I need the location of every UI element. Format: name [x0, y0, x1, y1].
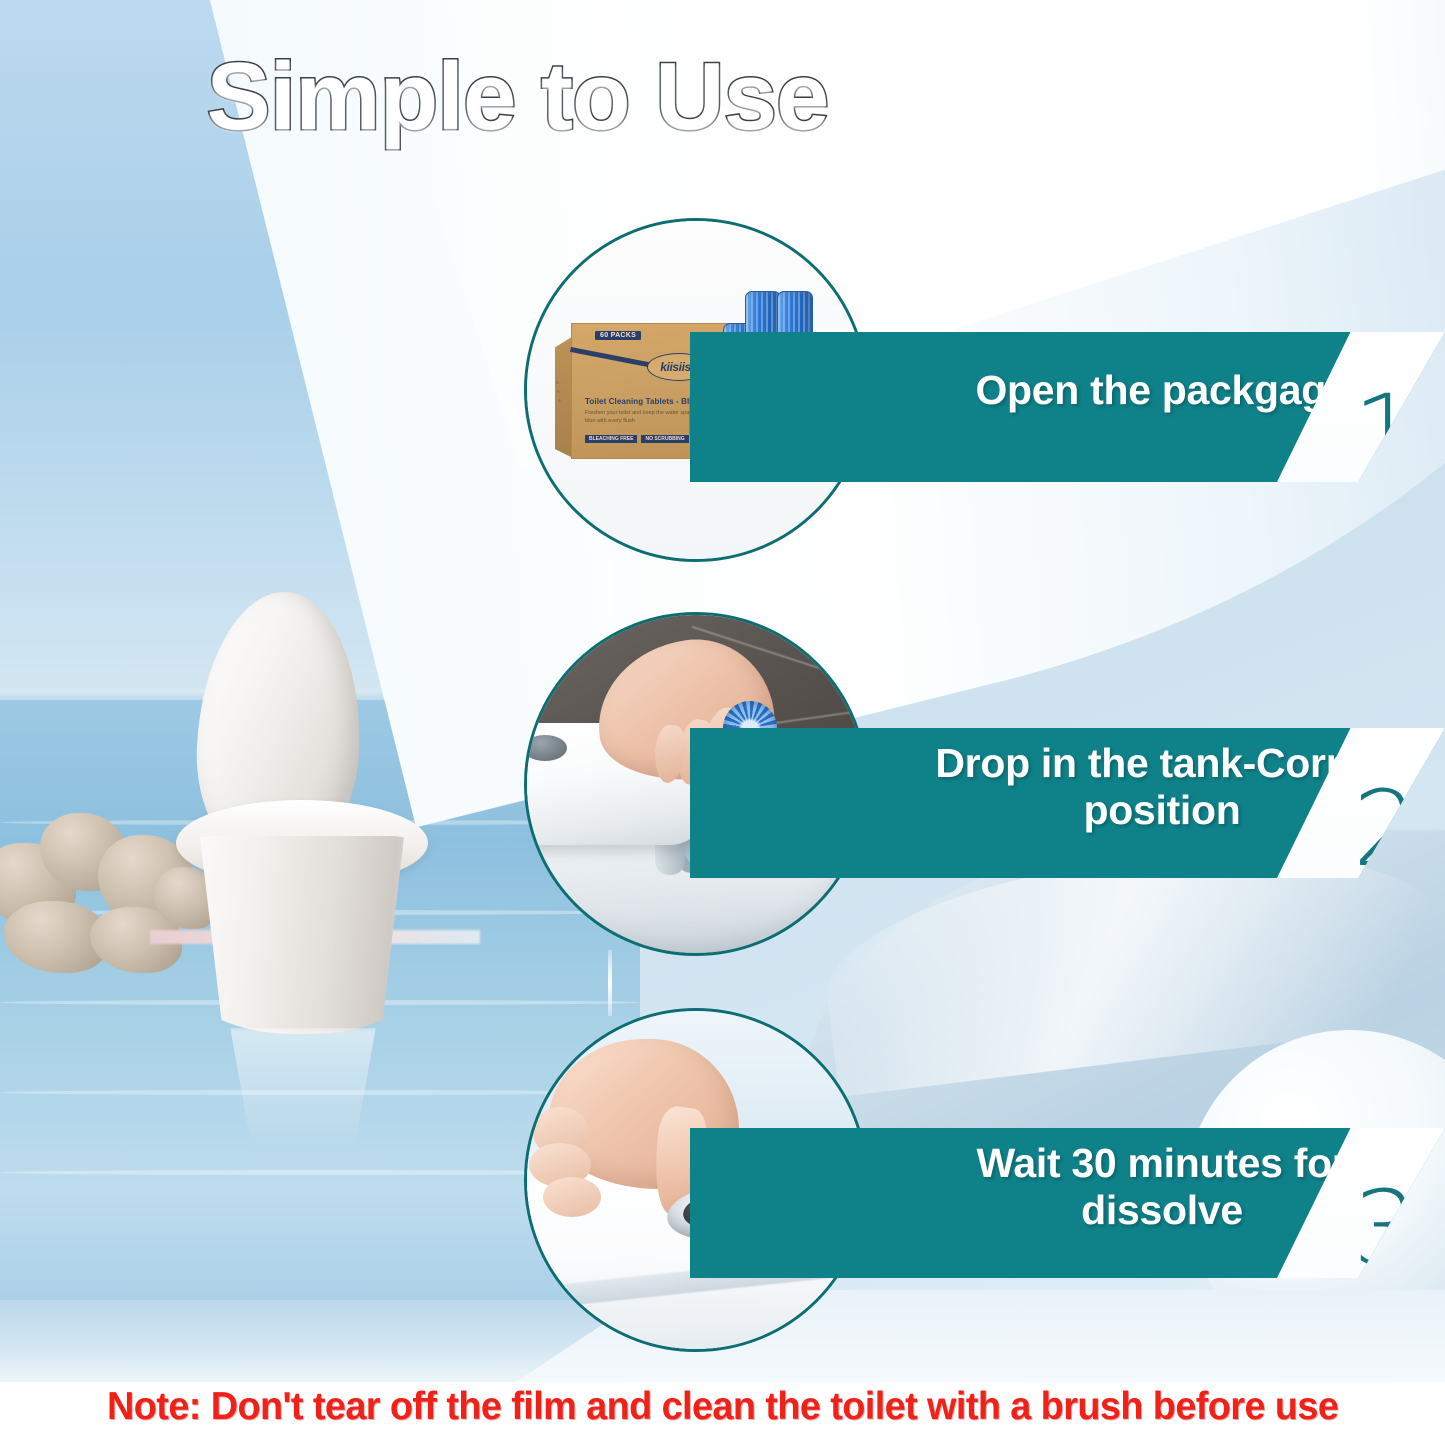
- note-text: Note: Don't tear off the film and clean …: [107, 1385, 1338, 1429]
- toilet-bowl: [186, 836, 418, 1034]
- infographic-poster: Simple to Use ≡≡≡ 60 PACKS kiisiiso Toil…: [0, 0, 1445, 1432]
- carton-packs-badge: 60 PACKS: [595, 331, 641, 340]
- step-1-banner: Open the packgage 1: [690, 332, 1445, 482]
- step-2-label-line1: Drop in the tank-Corner: [935, 740, 1388, 786]
- step-connector-2-3: [608, 950, 612, 1016]
- step-2-banner: Drop in the tank-Corner position 2: [690, 728, 1445, 878]
- step-connector-1-2: [608, 556, 612, 622]
- note-bar: Note: Don't tear off the film and clean …: [0, 1382, 1445, 1432]
- carton-tag-right: NO SCRUBBING: [641, 435, 688, 443]
- step-3-label-line1: Wait 30 minutes for: [977, 1140, 1348, 1186]
- carton-tag-left: BLEACHING FREE: [585, 435, 637, 443]
- step-2-label-line2: position: [1083, 787, 1240, 833]
- carton-side-text: ≡≡≡: [556, 379, 562, 406]
- carton-feature-tags: BLEACHING FREE NO SCRUBBING: [585, 435, 689, 443]
- step-3-label-line2: dissolve: [1081, 1187, 1243, 1233]
- page-title: Simple to Use: [0, 42, 1035, 152]
- tank-flush-button-ring: [524, 735, 567, 761]
- step-3-banner: Wait 30 minutes for dissolve 3: [690, 1128, 1445, 1278]
- carton-description: Freshen your toilet and keep the water s…: [585, 409, 703, 426]
